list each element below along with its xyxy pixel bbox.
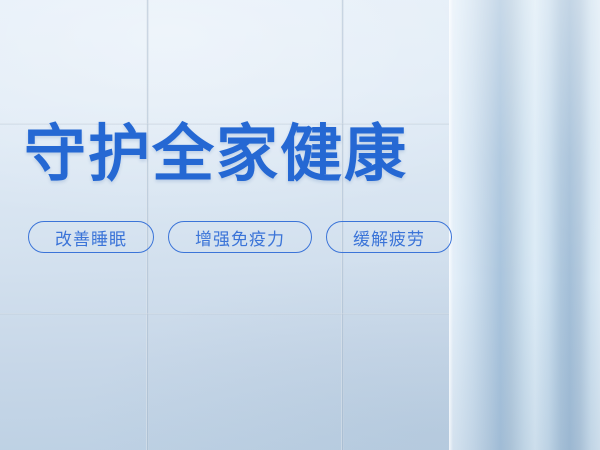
benefit-tag-relieve-fatigue[interactable]: 缓解疲劳 <box>326 221 452 253</box>
glass-curtain-band <box>449 0 600 450</box>
benefit-tag-improve-sleep[interactable]: 改善睡眠 <box>28 221 154 253</box>
benefit-tag-row: 改善睡眠 增强免疫力 缓解疲劳 <box>28 221 452 253</box>
page-title: 守护全家健康 <box>24 122 408 188</box>
benefit-tag-boost-immunity[interactable]: 增强免疫力 <box>168 221 312 253</box>
promo-banner: 守护全家健康 改善睡眠 增强免疫力 缓解疲劳 <box>0 0 600 450</box>
